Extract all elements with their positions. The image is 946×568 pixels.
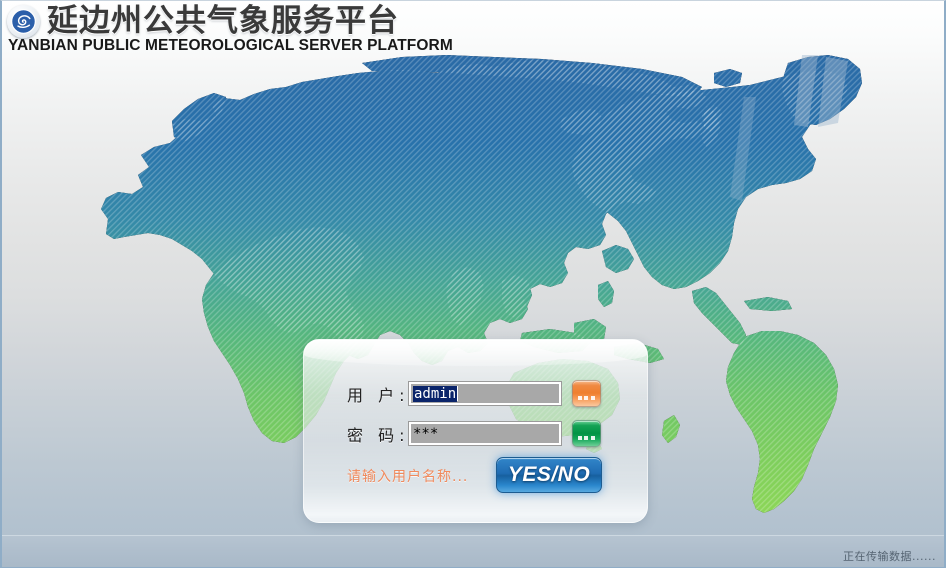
status-message: 正在传输数据......: [843, 548, 936, 564]
dots-icon: [577, 435, 596, 440]
password-label: 密 码:: [347, 422, 409, 446]
username-input[interactable]: admin: [409, 382, 561, 405]
panel-gloss-highlight: [304, 340, 647, 366]
submit-button[interactable]: YES/NO: [496, 457, 602, 493]
username-input-value: admin: [413, 386, 457, 402]
dots-icon: [577, 395, 596, 400]
login-panel: 用 户: admin 密 码: *** 请输入用户名称... YES/NO: [303, 339, 648, 523]
password-input[interactable]: ***: [409, 422, 561, 445]
username-extra-button[interactable]: [572, 380, 601, 407]
application-window: 延边州公共气象服务平台 YANBIAN PUBLIC METEOROLOGICA…: [0, 0, 946, 568]
password-extra-button[interactable]: [572, 420, 601, 447]
password-input-value: ***: [413, 426, 438, 442]
status-bar: 正在传输数据......: [2, 535, 944, 567]
text-caret: [457, 386, 458, 401]
password-row: 密 码: ***: [347, 420, 601, 447]
username-row: 用 户: admin: [347, 380, 601, 407]
validation-hint: 请输入用户名称...: [347, 466, 468, 486]
username-label: 用 户:: [347, 382, 409, 406]
submit-button-label: YES/NO: [508, 463, 590, 487]
